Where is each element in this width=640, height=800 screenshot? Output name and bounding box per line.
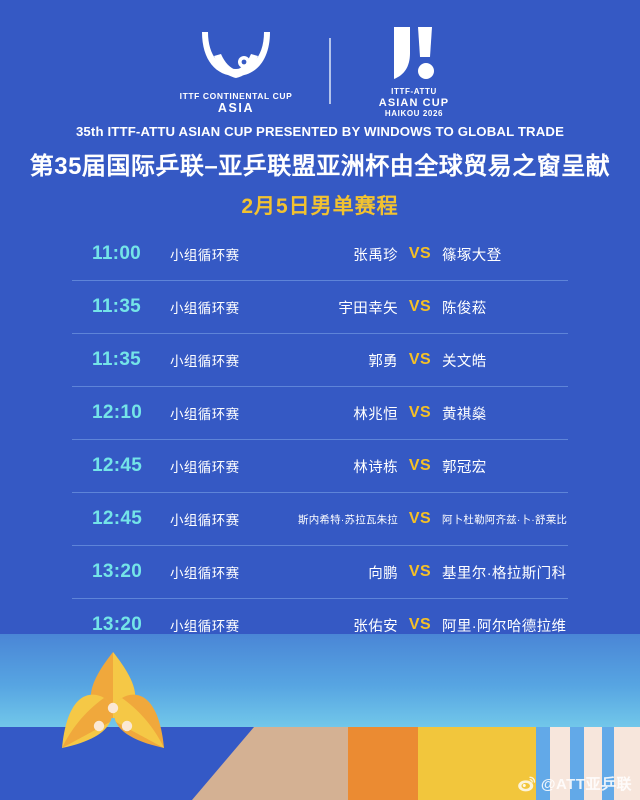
watermark-text: @ATT亚乒联 xyxy=(541,773,632,794)
match-time: 13:20 xyxy=(72,614,170,636)
match-players: 林兆恒VS黄祺燊 xyxy=(280,403,568,424)
weibo-icon xyxy=(517,774,536,793)
match-row: 11:00小组循环赛张禹珍VS篠塚大登 xyxy=(72,228,568,281)
match-stage: 小组循环赛 xyxy=(170,615,280,635)
vs-label: VS xyxy=(398,457,442,475)
player-one: 林诗栋 xyxy=(280,456,398,477)
match-time: 12:10 xyxy=(72,402,170,424)
vs-label: VS xyxy=(398,298,442,316)
logo-right-caption: ITTF-ATTU ASIAN CUP HAIKOU 2026 xyxy=(379,83,449,119)
player-one: 张佑安 xyxy=(280,615,398,636)
logo-left-caption: ITTF CONTINENTAL CUP ASIA xyxy=(180,86,293,116)
player-one: 宇田幸矢 xyxy=(280,297,398,318)
vs-label: VS xyxy=(398,404,442,422)
match-time: 12:45 xyxy=(72,455,170,477)
logo-left-line2: ASIA xyxy=(180,101,293,116)
match-row: 12:45小组循环赛林诗栋VS郭冠宏 xyxy=(72,440,568,493)
match-row: 11:35小组循环赛郭勇VS关文皓 xyxy=(72,334,568,387)
logo-right-line1: ITTF-ATTU xyxy=(379,87,449,96)
asian-cup-mark-icon xyxy=(384,23,444,83)
vs-label: VS xyxy=(398,563,442,581)
schedule-list: 11:00小组循环赛张禹珍VS篠塚大登11:35小组循环赛宇田幸矢VS陈俊菘11… xyxy=(72,228,568,652)
match-row: 11:35小组循环赛宇田幸矢VS陈俊菘 xyxy=(72,281,568,334)
beach-slope xyxy=(192,727,254,800)
match-stage: 小组循环赛 xyxy=(170,244,280,264)
date-heading: 2月5日男单赛程 xyxy=(0,190,640,220)
logo-right-line3: HAIKOU 2026 xyxy=(379,109,449,118)
player-two: 黄祺燊 xyxy=(442,403,568,424)
player-one: 郭勇 xyxy=(280,350,398,371)
ittf-continental-cup-asia-logo: ITTF CONTINENTAL CUP ASIA xyxy=(161,26,311,116)
bougainvillea-flower-icon xyxy=(48,646,178,776)
logo-left-line1: ITTF CONTINENTAL CUP xyxy=(180,91,293,101)
match-time: 11:35 xyxy=(72,296,170,318)
match-players: 向鹏VS基里尔·格拉斯门科 xyxy=(280,562,568,583)
player-two: 基里尔·格拉斯门科 xyxy=(442,562,568,583)
match-players: 斯内希特·苏拉瓦朱拉VS阿卜杜勒阿齐兹·卜·舒莱比 xyxy=(280,510,568,528)
match-players: 林诗栋VS郭冠宏 xyxy=(280,456,568,477)
vs-label: VS xyxy=(398,616,442,634)
ittf-attu-asian-cup-haikou-logo: ITTF-ATTU ASIAN CUP HAIKOU 2026 xyxy=(349,23,479,119)
player-two: 阿里·阿尔哈德拉维 xyxy=(442,615,568,636)
match-players: 宇田幸矢VS陈俊菘 xyxy=(280,297,568,318)
player-one: 张禹珍 xyxy=(280,244,398,265)
beach-fill xyxy=(254,727,320,800)
schedule-poster: ITTF CONTINENTAL CUP ASIA ITTF-ATTU ASIA… xyxy=(0,0,640,800)
match-time: 13:20 xyxy=(72,561,170,583)
match-players: 张佑安VS阿里·阿尔哈德拉维 xyxy=(280,615,568,636)
vs-label: VS xyxy=(398,510,442,528)
player-two: 关文皓 xyxy=(442,350,568,371)
continental-cup-crescent-icon xyxy=(194,26,278,86)
player-two: 陈俊菘 xyxy=(442,297,568,318)
match-row: 12:10小组循环赛林兆恒VS黄祺燊 xyxy=(72,387,568,440)
match-time: 12:45 xyxy=(72,508,170,530)
title-english: 35th ITTF-ATTU ASIAN CUP PRESENTED BY WI… xyxy=(0,124,640,139)
match-players: 张禹珍VS篠塚大登 xyxy=(280,244,568,265)
logo-right-line2: ASIAN CUP xyxy=(379,97,449,110)
vs-label: VS xyxy=(398,351,442,369)
title-chinese: 第35届国际乒联–亚乒联盟亚洲杯由全球贸易之窗呈献 xyxy=(0,146,640,181)
vs-label: VS xyxy=(398,245,442,263)
weibo-watermark: @ATT亚乒联 xyxy=(517,773,632,794)
match-time: 11:35 xyxy=(72,349,170,371)
player-two: 篠塚大登 xyxy=(442,244,568,265)
match-stage: 小组循环赛 xyxy=(170,456,280,476)
player-one: 向鹏 xyxy=(280,562,398,583)
player-two: 郭冠宏 xyxy=(442,456,568,477)
logo-divider xyxy=(329,38,331,104)
match-stage: 小组循环赛 xyxy=(170,350,280,370)
match-time: 11:00 xyxy=(72,243,170,265)
player-two: 阿卜杜勒阿齐兹·卜·舒莱比 xyxy=(442,512,568,527)
match-stage: 小组循环赛 xyxy=(170,297,280,317)
match-row: 13:20小组循环赛向鹏VS基里尔·格拉斯门科 xyxy=(72,546,568,599)
player-one: 林兆恒 xyxy=(280,403,398,424)
bottom-artwork: @ATT亚乒联 xyxy=(0,634,640,800)
logo-row: ITTF CONTINENTAL CUP ASIA ITTF-ATTU ASIA… xyxy=(0,22,640,120)
player-one: 斯内希特·苏拉瓦朱拉 xyxy=(280,512,398,527)
match-stage: 小组循环赛 xyxy=(170,509,280,529)
match-row: 12:45小组循环赛斯内希特·苏拉瓦朱拉VS阿卜杜勒阿齐兹·卜·舒莱比 xyxy=(72,493,568,546)
match-stage: 小组循环赛 xyxy=(170,403,280,423)
match-stage: 小组循环赛 xyxy=(170,562,280,582)
match-players: 郭勇VS关文皓 xyxy=(280,350,568,371)
